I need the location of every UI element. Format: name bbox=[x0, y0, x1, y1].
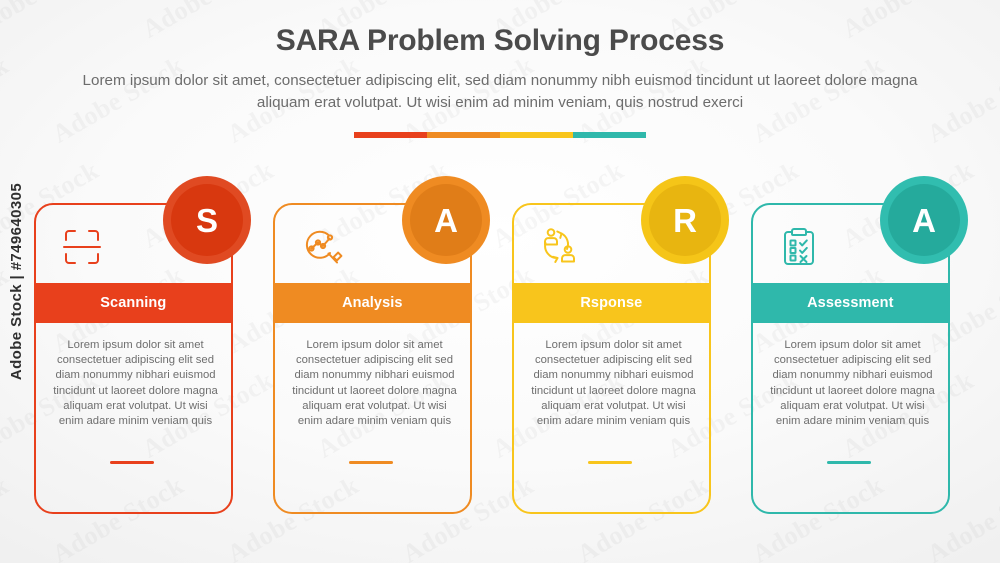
page-title: SARA Problem Solving Process bbox=[0, 24, 1000, 58]
magnifier-data-icon bbox=[297, 223, 345, 271]
infographic-canvas: Adobe StockAdobe StockAdobe StockAdobe S… bbox=[0, 0, 1000, 563]
step-badge-a-1[interactable]: A bbox=[402, 176, 490, 264]
accent-dash bbox=[349, 461, 393, 464]
page-subtitle: Lorem ipsum dolor sit amet, consectetuer… bbox=[76, 70, 924, 114]
divider-segment-2 bbox=[500, 132, 573, 138]
step-label: Assessment bbox=[807, 295, 893, 311]
stock-credit: Adobe Stock | #749640305 bbox=[2, 0, 32, 563]
people-exchange-icon bbox=[536, 223, 584, 271]
divider-segment-1 bbox=[427, 132, 500, 138]
badge-letter: A bbox=[434, 204, 458, 237]
clipboard-checklist-icon bbox=[775, 223, 823, 271]
step-label-band: Assessment bbox=[751, 283, 950, 323]
step-label-band: Analysis bbox=[273, 283, 472, 323]
watermark-text: Adobe Stock bbox=[922, 50, 1000, 149]
step-badge-s-0[interactable]: S bbox=[163, 176, 251, 264]
step-label: Rsponse bbox=[580, 295, 642, 311]
step-badge-r-2[interactable]: R bbox=[641, 176, 729, 264]
step-label: Analysis bbox=[342, 295, 402, 311]
badge-letter: A bbox=[912, 204, 936, 237]
badge-inner-circle: A bbox=[888, 184, 960, 256]
badge-letter: S bbox=[196, 204, 218, 237]
badge-inner-circle: S bbox=[171, 184, 243, 256]
accent-dash bbox=[827, 461, 871, 464]
divider-segment-0 bbox=[354, 132, 427, 138]
scan-frame-icon bbox=[58, 223, 106, 271]
stock-credit-label: Adobe Stock | #749640305 bbox=[9, 183, 26, 380]
divider-segment-3 bbox=[573, 132, 646, 138]
step-badge-a-3[interactable]: A bbox=[880, 176, 968, 264]
badge-letter: R bbox=[673, 204, 697, 237]
step-description: Lorem ipsum dolor sit amet consectetuer … bbox=[289, 338, 460, 429]
step-label-band: Rsponse bbox=[512, 283, 711, 323]
badge-inner-circle: A bbox=[410, 184, 482, 256]
color-divider bbox=[354, 132, 646, 138]
accent-dash bbox=[588, 461, 632, 464]
step-description: Lorem ipsum dolor sit amet consectetuer … bbox=[50, 338, 221, 429]
step-description: Lorem ipsum dolor sit amet consectetuer … bbox=[767, 338, 938, 429]
step-label-band: Scanning bbox=[34, 283, 233, 323]
step-label: Scanning bbox=[100, 295, 166, 311]
step-description: Lorem ipsum dolor sit amet consectetuer … bbox=[528, 338, 699, 429]
accent-dash bbox=[110, 461, 154, 464]
badge-inner-circle: R bbox=[649, 184, 721, 256]
